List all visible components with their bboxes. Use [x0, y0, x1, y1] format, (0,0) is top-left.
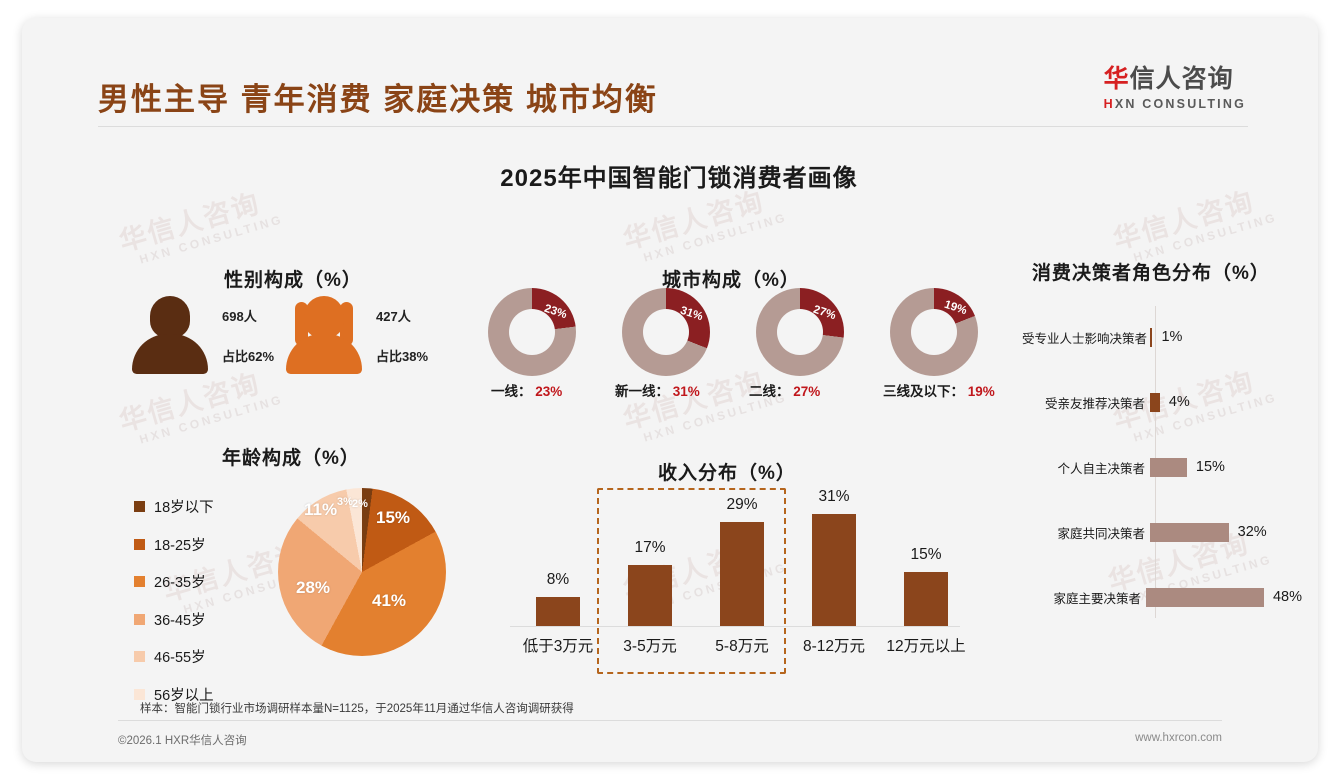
income-bar-value: 17% [612, 539, 688, 557]
legend-swatch-icon [134, 614, 145, 625]
city-donut: 19% [890, 288, 978, 376]
female-silhouette-icon [286, 296, 362, 374]
city-chart: 23% 一线： 23% 31% 新一线： 31% 27% 二线： 27% 19%… [474, 288, 1014, 398]
legend-swatch-icon [134, 576, 145, 587]
brand-logo-en: HXN CONSULTING [1104, 97, 1246, 111]
watermark-en: HXN CONSULTING [642, 210, 789, 265]
legend-swatch-icon [134, 689, 145, 700]
decision-row: 家庭共同决策者 32% [1022, 517, 1302, 547]
decision-row: 受专业人士影响决策者 1% [1022, 322, 1302, 352]
source-note: 样本：智能门锁行业市场调研样本量N=1125，于2025年11月通过华信人咨询调… [140, 700, 574, 716]
slide-canvas: 华信人咨询 HXN CONSULTING 华信人咨询 HXN CONSULTIN… [22, 18, 1318, 762]
age-legend: 18岁以下 18-25岁 26-35岁 36-45岁 46-55岁 56岁以上 [134, 496, 214, 721]
male-share: 占比62% [222, 346, 274, 365]
chart-main-title-text: 2025年中国智能门锁消费者画像 [500, 165, 857, 192]
website-url: www.hxrcon.com [1135, 732, 1222, 744]
age-legend-item: 36-45岁 [134, 609, 214, 630]
watermark-en: HXN CONSULTING [1132, 210, 1279, 265]
income-bar-value: 31% [796, 488, 872, 506]
income-chart: 8% 低于3万元 17% 3-5万元 29% 5-8万元 31% 8-12万元 … [492, 448, 982, 678]
decision-row-value: 1% [1161, 329, 1182, 345]
income-bar [720, 522, 764, 626]
income-bar-value: 29% [704, 496, 780, 514]
income-bar [628, 565, 672, 626]
brand-logo-cn: 华信人咨询 [1104, 66, 1246, 94]
age-pie-label: 3% [337, 496, 353, 508]
decision-row-bar [1150, 328, 1152, 347]
city-label-text: 一线： [491, 384, 532, 399]
footer-divider [118, 720, 1222, 721]
city-donut: 27% [756, 288, 844, 376]
decision-row-bar [1150, 393, 1160, 412]
female-share: 占比38% [376, 346, 428, 365]
brand-logo-cn-accent: 华 [1104, 65, 1130, 93]
legend-swatch-icon [134, 539, 145, 550]
city-label-value: 31% [673, 384, 700, 399]
brand-logo-en-rest: XN CONSULTING [1115, 97, 1246, 111]
age-legend-item: 18岁以下 [134, 496, 214, 517]
age-legend-item: 18-25岁 [134, 534, 214, 555]
city-label-text: 新一线： [615, 384, 669, 399]
city-label-text: 三线及以下： [883, 384, 964, 399]
city-donut: 31% [622, 288, 710, 376]
city-label-value: 27% [793, 384, 820, 399]
chart-main-title: 2025年中国智能门锁消费者画像 [22, 158, 1318, 193]
age-pie-label: 41% [372, 591, 406, 611]
decision-row: 个人自主决策者 15% [1022, 452, 1302, 482]
decision-row-label: 个人自主决策者 [1022, 458, 1150, 477]
income-bar [536, 597, 580, 626]
decision-chart: 受专业人士影响决策者 1% 受亲友推荐决策者 4% 个人自主决策者 15% 家庭… [1022, 258, 1302, 618]
decision-row: 受亲友推荐决策者 4% [1022, 387, 1302, 417]
page-title: 男性主导 青年消费 家庭决策 城市均衡 [98, 74, 658, 119]
decision-row-bar [1150, 523, 1229, 542]
male-silhouette-icon [132, 296, 208, 374]
brand-logo-cn-rest: 信人咨询 [1130, 65, 1234, 93]
income-bar [812, 514, 856, 626]
decision-row-bar [1150, 458, 1187, 477]
decision-row-value: 32% [1238, 524, 1267, 540]
slide-header: 男性主导 青年消费 家庭决策 城市均衡 华信人咨询 HXN CONSULTING [22, 18, 1318, 126]
decision-row-value: 48% [1273, 589, 1302, 605]
age-legend-item: 46-55岁 [134, 646, 214, 667]
decision-row-value: 15% [1196, 459, 1225, 475]
decision-row: 家庭主要决策者 48% [1022, 582, 1302, 612]
decision-row-label: 家庭共同决策者 [1022, 523, 1150, 542]
age-legend-label: 46-55岁 [154, 646, 206, 667]
age-legend-item: 26-35岁 [134, 571, 214, 592]
income-bar [904, 572, 948, 626]
age-pie-label: 11% [304, 500, 337, 520]
header-divider [98, 126, 1248, 127]
brand-logo-en-accent: H [1104, 97, 1115, 111]
legend-swatch-icon [134, 651, 145, 662]
age-legend-label: 36-45岁 [154, 609, 206, 630]
age-legend-label: 26-35岁 [154, 571, 206, 592]
legend-swatch-icon [134, 501, 145, 512]
copyright-text: ©2026.1 HXR华信人咨询 [118, 732, 247, 748]
city-label-text: 二线： [749, 384, 790, 399]
income-bar-value: 15% [888, 546, 964, 564]
income-bar-value: 8% [520, 571, 596, 589]
age-chart: 18岁以下 18-25岁 26-35岁 36-45岁 46-55岁 56岁以上 … [118, 438, 458, 678]
age-legend-label: 18-25岁 [154, 534, 206, 555]
decision-row-label: 受亲友推荐决策者 [1022, 393, 1150, 412]
gender-chart: 698人 占比62% 427人 占比38% [118, 260, 448, 390]
city-label-value: 19% [968, 384, 995, 399]
income-bar-category: 12万元以上 [871, 634, 981, 656]
watermark-en: HXN CONSULTING [138, 212, 285, 267]
age-pie-label: 15% [376, 508, 410, 528]
decision-row-label: 受专业人士影响决策者 [1022, 328, 1150, 347]
city-donut: 23% [488, 288, 576, 376]
age-legend-label: 18岁以下 [154, 496, 214, 517]
female-count: 427人 [376, 306, 411, 325]
city-label-value: 23% [535, 384, 562, 399]
brand-logo: 华信人咨询 HXN CONSULTING [1104, 66, 1246, 111]
age-pie-label: 28% [296, 578, 330, 598]
decision-row-bar [1146, 588, 1264, 607]
decision-row-label: 家庭主要决策者 [1022, 588, 1146, 607]
decision-row-value: 4% [1169, 394, 1190, 410]
age-pie-label: 2% [352, 498, 368, 510]
male-count: 698人 [222, 306, 257, 325]
